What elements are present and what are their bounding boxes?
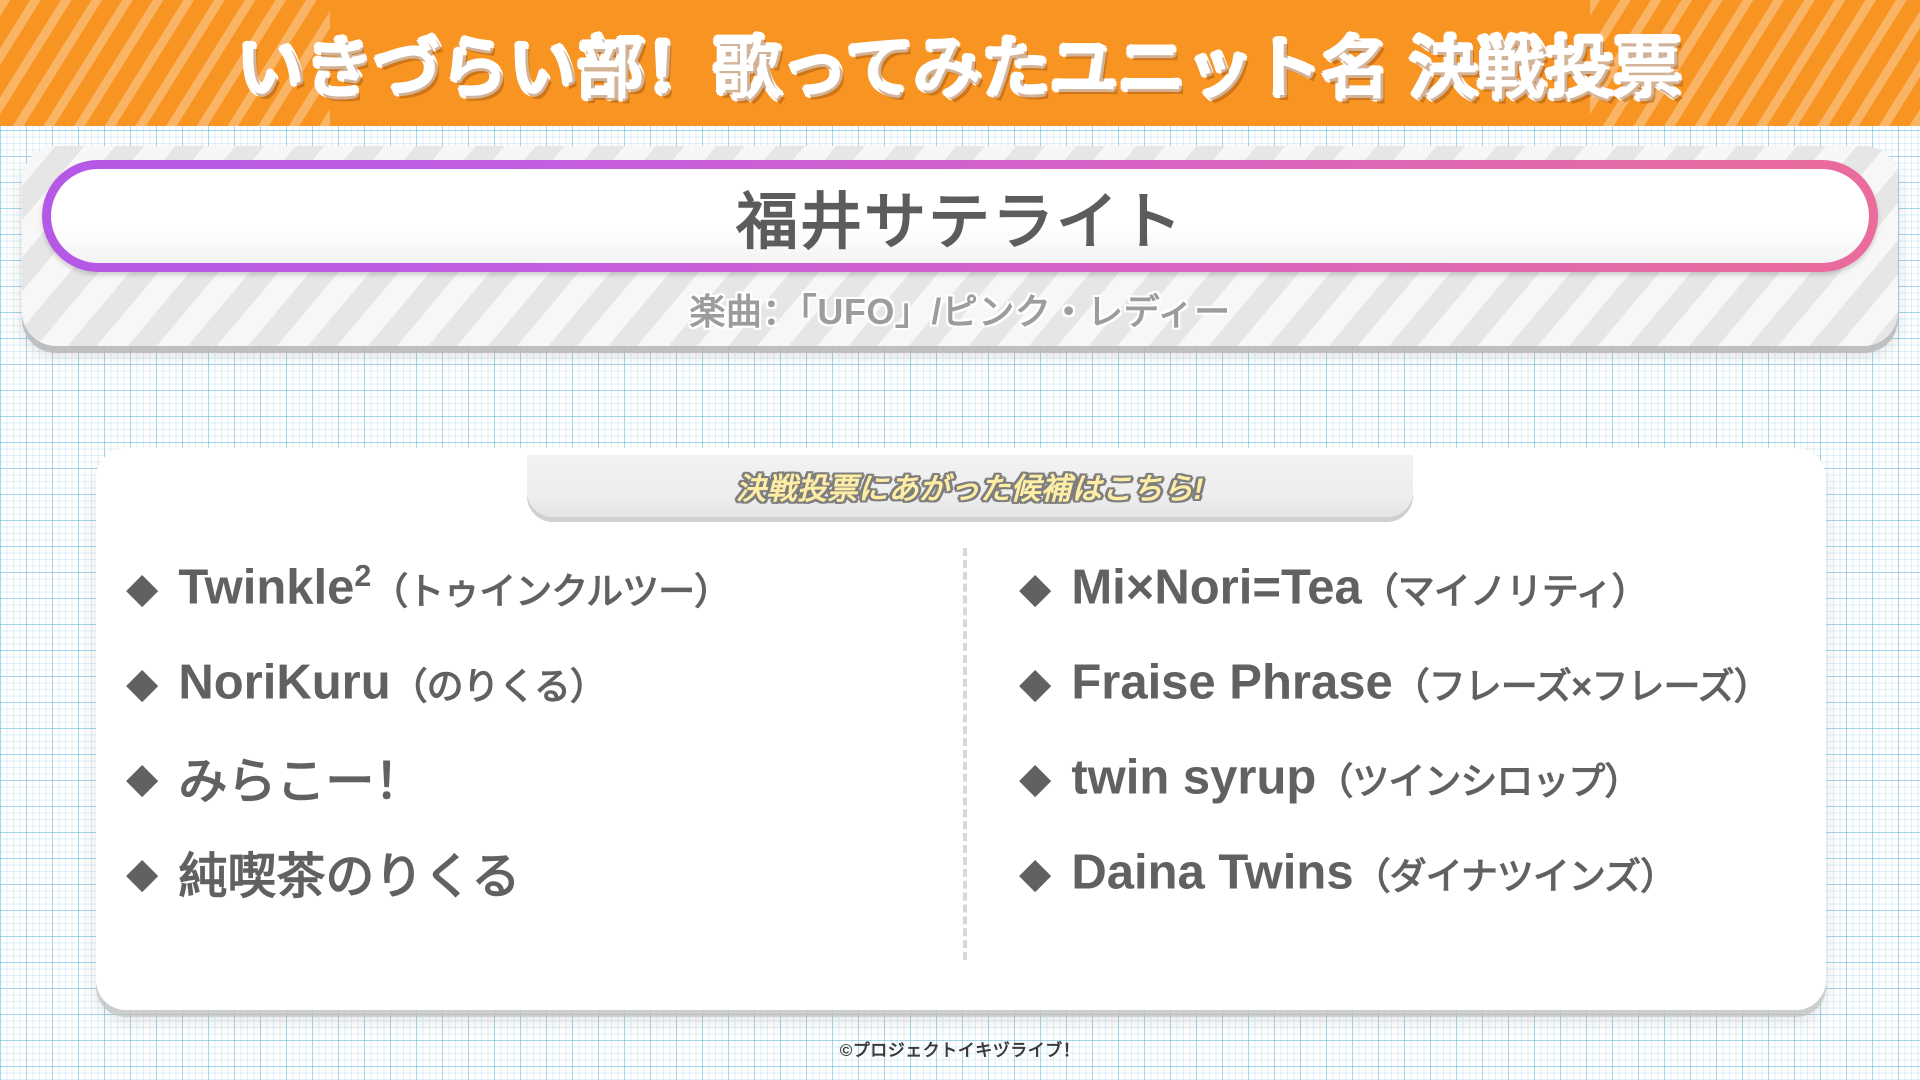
candidate-name: 純喫茶のりくる bbox=[178, 837, 520, 908]
candidate-item[interactable]: ◆ twin syrup （ツインシロップ） bbox=[1019, 730, 1826, 825]
candidates-ribbon: 決戦投票にあがった候補はこちら! bbox=[527, 455, 1413, 517]
candidate-name-main: Daina Twins bbox=[1071, 846, 1353, 900]
candidate-item[interactable]: ◆ Fraise Phrase （フレーズ×フレーズ） bbox=[1019, 635, 1826, 730]
candidate-item[interactable]: ◆ NoriKuru （のりくる） bbox=[126, 635, 961, 730]
candidate-name: NoriKuru bbox=[178, 654, 390, 710]
diamond-bullet-icon: ◆ bbox=[1019, 757, 1051, 799]
candidate-name-main: 純喫茶のりくる bbox=[178, 850, 520, 904]
candidates-ribbon-label: 決戦投票にあがった候補はこちら! bbox=[736, 464, 1204, 508]
slide-root: いきづらい部！歌ってみたユニット名 決戦投票 福井サテライト 楽曲：「UFO」/… bbox=[0, 0, 1920, 1080]
candidate-reading: （トゥインクルツー） bbox=[371, 561, 730, 615]
copyright-label: ©プロジェクトイキヅライブ！ bbox=[840, 1041, 1081, 1060]
candidate-item[interactable]: ◆ みらこー！ bbox=[126, 730, 961, 825]
candidate-item[interactable]: ◆ Mi×Nori=Tea （マイノリティ） bbox=[1019, 540, 1826, 635]
page-title: いきづらい部！歌ってみたユニット名 決戦投票 bbox=[238, 15, 1682, 112]
candidate-name: みらこー！ bbox=[178, 742, 423, 813]
candidate-reading: （ダイナツインズ） bbox=[1354, 846, 1677, 900]
footer: ©プロジェクトイキヅライブ！ bbox=[0, 1036, 1920, 1061]
candidate-name: Fraise Phrase bbox=[1071, 654, 1392, 710]
candidates-column-right: ◆ Mi×Nori=Tea （マイノリティ） ◆ Fraise Phrase （… bbox=[961, 540, 1826, 970]
unit-name-plate: 福井サテライト bbox=[42, 160, 1878, 272]
header-banner: いきづらい部！歌ってみたユニット名 決戦投票 bbox=[0, 0, 1920, 126]
song-label: 楽曲：「UFO」/ピンク・レディー bbox=[689, 283, 1230, 335]
candidate-name: Twinkle2 bbox=[178, 559, 371, 615]
candidate-reading: （フレーズ×フレーズ） bbox=[1393, 656, 1770, 710]
candidate-item[interactable]: ◆ 純喫茶のりくる bbox=[126, 825, 961, 920]
candidate-reading: （のりくる） bbox=[391, 656, 606, 710]
candidate-name-main: みらこー！ bbox=[178, 755, 423, 809]
candidate-name-main: Twinkle bbox=[178, 561, 354, 615]
candidate-reading: （ツインシロップ） bbox=[1316, 751, 1640, 805]
diamond-bullet-icon: ◆ bbox=[126, 662, 158, 704]
diamond-bullet-icon: ◆ bbox=[1019, 567, 1051, 609]
candidate-name-main: twin syrup bbox=[1071, 751, 1316, 805]
candidate-reading: （マイノリティ） bbox=[1362, 561, 1648, 615]
candidate-name: Daina Twins bbox=[1071, 844, 1353, 900]
candidate-name-main: Mi×Nori=Tea bbox=[1071, 561, 1361, 615]
diamond-bullet-icon: ◆ bbox=[126, 567, 158, 609]
candidate-name: twin syrup bbox=[1071, 749, 1316, 805]
candidates-column-left: ◆ Twinkle2 （トゥインクルツー） ◆ NoriKuru （のりくる） … bbox=[96, 540, 961, 970]
diamond-bullet-icon: ◆ bbox=[1019, 662, 1051, 704]
candidate-name-sup: 2 bbox=[354, 559, 371, 593]
unit-name-plate-inner: 福井サテライト bbox=[51, 169, 1869, 263]
candidate-item[interactable]: ◆ Twinkle2 （トゥインクルツー） bbox=[126, 540, 961, 635]
candidate-name: Mi×Nori=Tea bbox=[1071, 559, 1361, 615]
candidate-name-main: Fraise Phrase bbox=[1071, 656, 1392, 710]
diamond-bullet-icon: ◆ bbox=[126, 757, 158, 799]
unit-name: 福井サテライト bbox=[736, 171, 1184, 261]
candidate-name-main: NoriKuru bbox=[178, 656, 390, 710]
song-row: 楽曲：「UFO」/ピンク・レディー bbox=[42, 276, 1878, 342]
candidates-columns: ◆ Twinkle2 （トゥインクルツー） ◆ NoriKuru （のりくる） … bbox=[96, 540, 1826, 970]
diamond-bullet-icon: ◆ bbox=[1019, 852, 1051, 894]
candidate-item[interactable]: ◆ Daina Twins （ダイナツインズ） bbox=[1019, 825, 1826, 920]
diamond-bullet-icon: ◆ bbox=[126, 852, 158, 894]
